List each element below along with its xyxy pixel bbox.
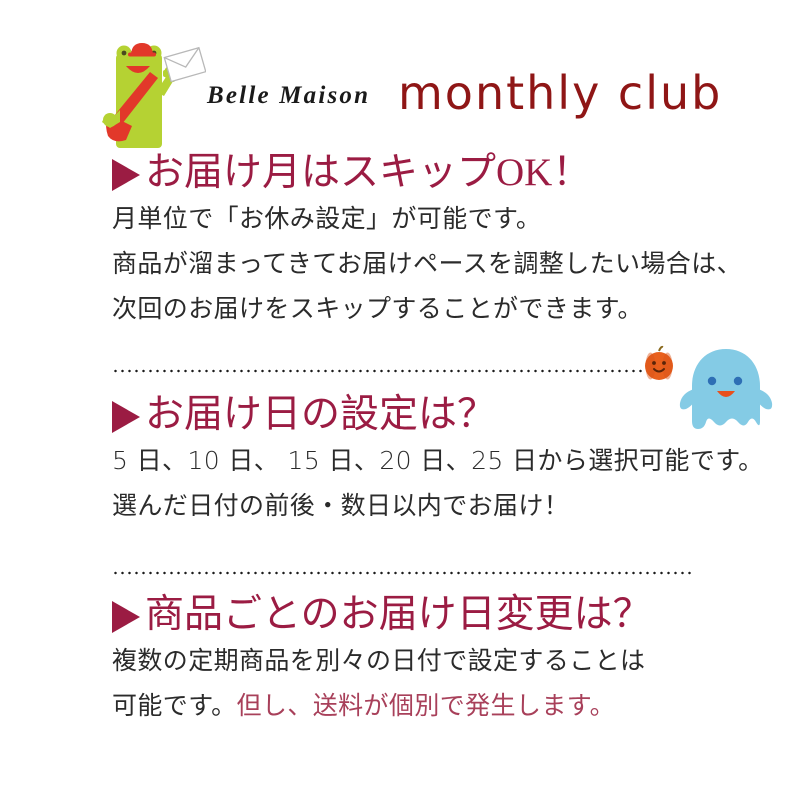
triangle-right-icon (112, 159, 140, 191)
club-title: monthly club (398, 66, 722, 120)
pumpkin-icon (642, 345, 676, 382)
section-skip-month: お届け月はスキップOK！ 月単位で「お休み設定」が可能です。 商品が溜まってきて… (0, 150, 800, 331)
dotted-divider (112, 369, 652, 373)
dotted-divider (112, 571, 692, 575)
frog-mailman-mascot (98, 40, 206, 158)
triangle-right-icon (112, 401, 140, 433)
envelope-icon (164, 48, 205, 82)
section-body: 5 日、10 日、 15 日、20 日、25 日から選択可能です。 選んだ日付の… (0, 438, 800, 528)
body-line: 5 日、10 日、 15 日、20 日、25 日から選択可能です。 (112, 438, 800, 483)
body-line: 月単位で「お休み設定」が可能です。 (112, 196, 800, 241)
section-heading-label: お届け月はスキップOK！ (145, 150, 591, 196)
body-line: 選んだ日付の前後・数日以内でお届け！ (112, 483, 800, 528)
promo-page: Belle Maison monthly club お届け月はスキップOK！ 月… (0, 0, 800, 800)
section-body: 複数の定期商品を別々の日付で設定することは 可能です。但し、送料が個別で発生しま… (0, 638, 800, 728)
section-per-item-change: 商品ごとのお届け日変更は？ 複数の定期商品を別々の日付で設定することは 可能です… (0, 592, 800, 728)
body-line: 商品が溜まってきてお届けペースを調整したい場合は、 (112, 241, 800, 286)
body-line: 可能です。但し、送料が個別で発生します。 (112, 683, 800, 728)
brand-name: Belle Maison (207, 82, 370, 110)
body-line-text: 可能です。 (112, 691, 237, 720)
section-heading: 商品ごとのお届け日変更は？ (0, 592, 800, 638)
body-line-accent: 但し、送料が個別で発生します。 (237, 691, 616, 720)
body-line: 複数の定期商品を別々の日付で設定することは (112, 638, 800, 683)
section-body: 月単位で「お休み設定」が可能です。 商品が溜まってきてお届けペースを調整したい場… (0, 196, 800, 331)
section-delivery-date: お届け日の設定は？ 5 日、10 日、 15 日、20 日、25 日から選択可能… (0, 392, 800, 528)
body-line: 次回のお届けをスキップすることができます。 (112, 286, 800, 331)
section-heading-label: お届け日の設定は？ (145, 392, 496, 438)
triangle-right-icon (112, 601, 140, 633)
section-heading: お届け月はスキップOK！ (0, 150, 800, 196)
section-heading-label: 商品ごとのお届け日変更は？ (145, 592, 652, 638)
page-header: Belle Maison monthly club (0, 18, 800, 143)
section-heading: お届け日の設定は？ (0, 392, 800, 438)
